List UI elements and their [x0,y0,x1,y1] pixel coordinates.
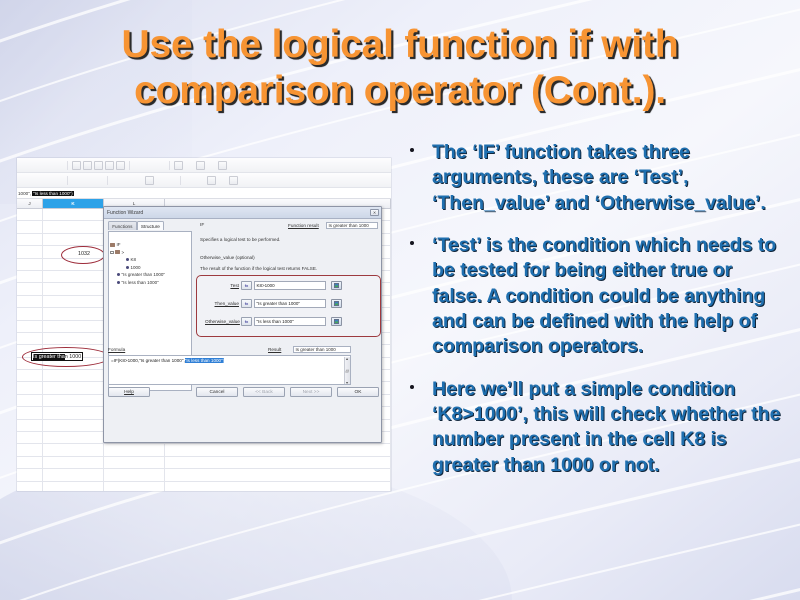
tree-node-1000[interactable]: 1000 [109,264,191,272]
tree-node-then[interactable]: "Is greater than 1000" [109,271,191,279]
bullet-dot-icon [126,258,129,261]
chart-icon [174,161,183,170]
toolbar-separator [67,176,68,185]
folder-icon [115,250,120,254]
row-icon [72,161,81,170]
cell-value-result[interactable]: Is greater than 1000 [31,352,83,361]
border-style-icon [218,176,227,185]
sort-asc-icon [134,161,143,170]
undo-icon [21,161,30,170]
bullet-dot-icon [404,377,432,389]
formula-bar-selection: "Is less than 1000") [32,191,74,196]
close-icon[interactable]: ✕ [370,209,379,216]
description-otherwise-heading: Otherwise_value (optional) [200,255,255,260]
bullet-item-2: ‘Test’ is the condition which needs to b… [404,233,782,360]
cell-value-1032[interactable]: 1032 [71,251,97,257]
argument-row-test: Test fx K8>1000 [205,281,342,290]
hyperlink-icon [207,161,216,170]
tab-structure[interactable]: Structure [137,221,164,230]
tree-node-label: "Is greater than 1000" [122,272,165,277]
comment-icon [196,161,205,170]
toolbar-separator [107,176,108,185]
scroll-down-icon[interactable]: ▼ [345,381,349,385]
bullet-list: The ‘IF’ function takes three arguments,… [404,140,782,495]
background-color-icon [207,176,216,185]
conditional-format-icon [229,176,238,185]
toolbar-separator [180,176,181,185]
grid-row [17,482,391,491]
argument-label-then-value: Then_value [205,301,239,306]
sort-desc-icon [145,161,154,170]
redo-icon [32,161,41,170]
tree-node-label: IF [117,242,121,247]
argument-input-otherwise-value[interactable]: "Is less than 1000" [254,317,326,326]
add-decimal-icon [156,176,165,185]
align-left-icon [21,176,30,185]
align-top-icon [72,176,81,185]
cell-result-rest: n 1000 [65,354,82,360]
align-justify-icon [54,176,63,185]
shrink-dialog-icon[interactable] [331,317,342,326]
bullet-text-1: The ‘IF’ function takes three arguments,… [432,140,782,216]
tree-node-k8[interactable]: K8 [109,256,191,264]
argument-label-otherwise-value: Otherwise_value [205,319,239,324]
dialog-tabs: Functions Structure [108,221,164,230]
scroll-thumb[interactable]: ▤ [345,369,348,373]
image-icon [185,161,194,170]
formula-text: =IF(K8>1000,"Is greater than 1000", [111,358,185,363]
formula-scrollbar[interactable]: ▲ ▤ ▼ [344,357,350,386]
filter-icon [156,161,165,170]
function-result-label: Function result [288,223,319,228]
embedded-screenshot-image: 1000", "Is less than 1000") J K L [17,158,391,491]
argument-input-then-value[interactable]: "Is greater than 1000" [254,299,326,308]
cell-result-highlight: Is greater tha [33,354,65,360]
remove-decimal-icon [167,176,176,185]
tree-node-if[interactable]: IF [109,241,191,249]
formula-textarea[interactable]: =IF(K8>1000,"Is greater than 1000","Is l… [108,355,351,385]
align-middle-icon [83,176,92,185]
formula-text-highlight: "Is less than 1000") [185,358,225,363]
dialog-button-row: Cancel << Back Next >> OK [108,387,379,397]
folder-icon [110,243,115,247]
currency-icon [145,176,154,185]
grid-row [17,457,391,469]
tree-node-label: > [122,250,125,255]
argument-row-otherwise-value: Otherwise_value fx "Is less than 1000" [205,317,342,326]
column-header-K[interactable]: K [43,199,104,208]
percent-icon [123,176,132,185]
align-bottom-icon [94,176,103,185]
fx-button-test[interactable]: fx [241,281,252,290]
structure-tree: IF - > K8 1000 "Is greater than 10 [109,241,191,286]
toolbar-separator [67,161,68,170]
slide-canvas: Use the logical function if with compari… [0,0,800,600]
bullet-text-3: Here we’ll put a simple condition ‘K8>10… [432,377,782,478]
grid-row [17,444,391,456]
cancel-button[interactable]: Cancel [196,387,238,397]
tree-node-otherwise[interactable]: "Is less than 1000" [109,279,191,287]
bullet-dot-icon [126,266,129,269]
decrease-indent-icon [185,176,194,185]
spreadsheet-toolbar-row-1 [17,158,391,173]
fx-button-otherwise-value[interactable]: fx [241,317,252,326]
bullet-item-1: The ‘IF’ function takes three arguments,… [404,140,782,216]
result-value: Is greater than 1000 [293,346,351,354]
formula-bar-prefix: 1000", [18,191,31,196]
slide-title: Use the logical function if with compari… [48,22,752,113]
argument-label-test: Test [205,283,239,288]
function-name-label: IF [200,223,204,228]
toolbar-separator [129,161,130,170]
bullet-item-3: Here we’ll put a simple condition ‘K8>10… [404,377,782,478]
align-right-icon [43,176,52,185]
number-format-icon [134,176,143,185]
description-logical-test: Specifies a logical test to be performed… [200,237,280,242]
increase-indent-icon [196,176,205,185]
column-header-J[interactable]: J [17,199,43,208]
grid-row [17,469,391,481]
special-character-icon [218,161,227,170]
function-wizard-dialog: Function Wizard ✕ Functions Structure St… [103,206,382,443]
ok-button[interactable]: OK [337,387,379,397]
fx-button-then-value[interactable]: fx [241,299,252,308]
description-otherwise-body: The result of the function if the logica… [200,266,317,271]
back-button[interactable]: << Back [243,387,285,397]
align-center-icon [32,176,41,185]
tree-node-label: "Is less than 1000" [122,280,159,285]
shrink-dialog-icon[interactable] [331,299,342,308]
clone-formatting-icon [43,161,52,170]
next-button[interactable]: Next >> [290,387,332,397]
shrink-dialog-icon[interactable] [331,281,342,290]
borders-icon [116,161,125,170]
result-label: Result [268,347,281,352]
bullet-dot-icon [117,273,120,276]
formula-bar[interactable]: 1000", "Is less than 1000") [17,188,391,199]
tab-functions[interactable]: Functions [108,221,137,230]
tree-node-label: 1000 [131,265,141,270]
function-result-value: Is greater than 1000 [326,222,378,230]
bullet-dot-icon [404,233,432,245]
tree-node-label: K8 [131,257,137,262]
dialog-title-text: Function Wizard [107,210,143,216]
spreadsheet-toolbar-row-2 [17,173,391,188]
scroll-up-icon[interactable]: ▲ [345,357,349,361]
sheet-icon [105,161,114,170]
column-icon [83,161,92,170]
bullet-dot-icon [404,140,432,152]
argument-input-test[interactable]: K8>1000 [254,281,326,290]
find-icon [54,161,63,170]
formula-label: Formula [108,347,125,352]
dialog-title-bar[interactable]: Function Wizard ✕ [104,207,381,219]
bullet-text-2: ‘Test’ is the condition which needs to b… [432,233,782,360]
bullet-dot-icon [117,281,120,284]
tree-node-gt[interactable]: - > [109,249,191,257]
argument-row-then-value: Then_value fx "Is greater than 1000" [205,299,342,308]
expander-icon[interactable]: - [110,251,114,255]
table-icon [94,161,103,170]
toolbar-separator [169,161,170,170]
merge-cells-icon [112,176,121,185]
